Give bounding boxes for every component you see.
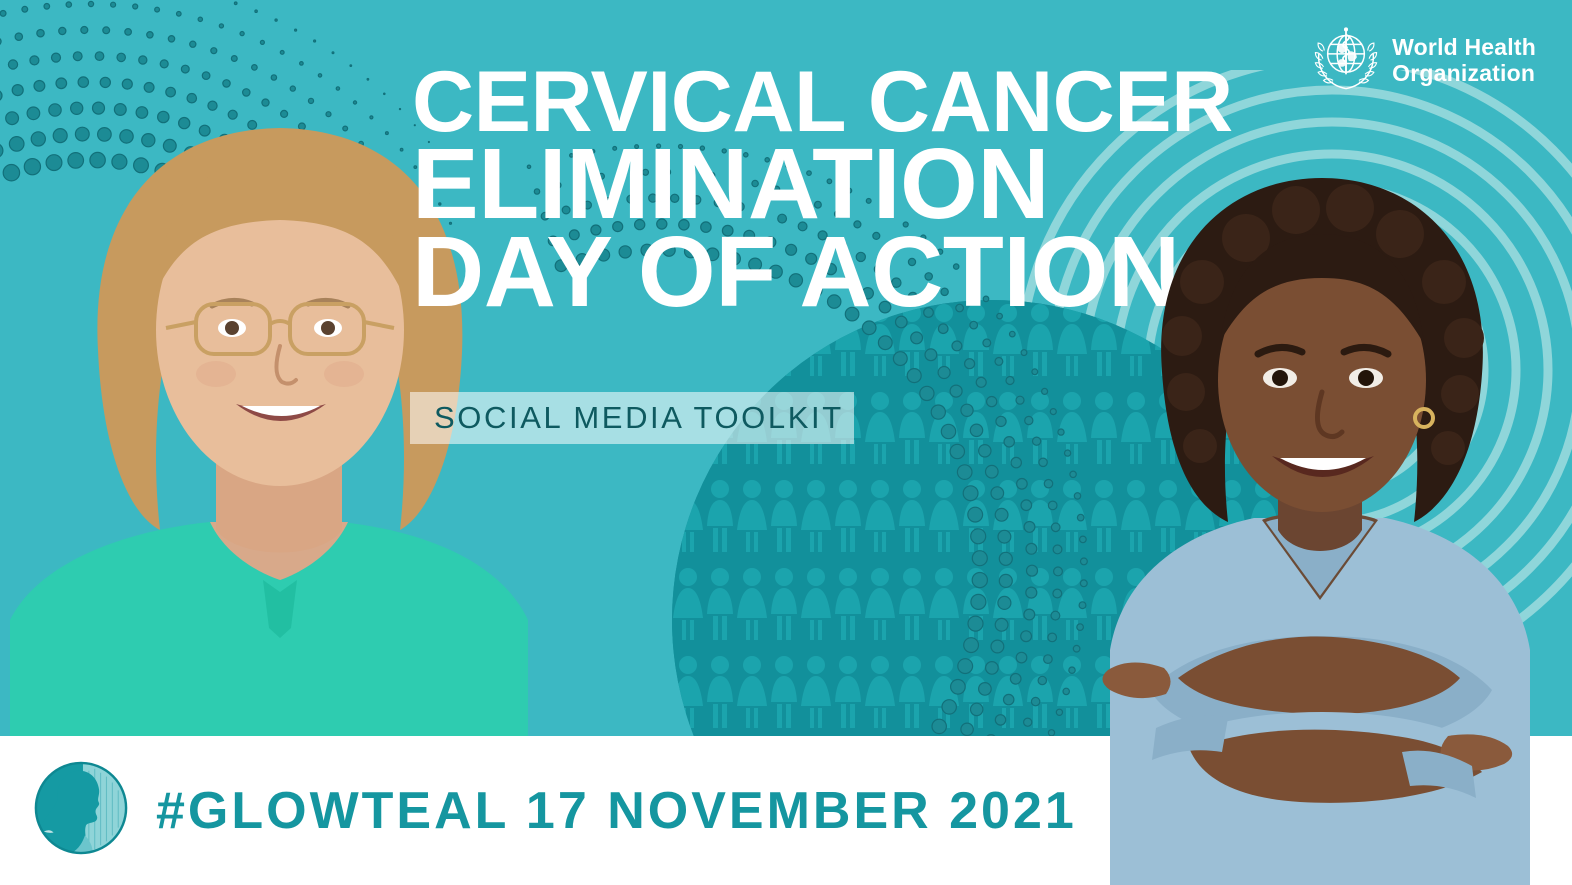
photo-right-woman (1040, 130, 1572, 885)
subtitle-text: SOCIAL MEDIA TOOLKIT (410, 400, 844, 436)
subtitle-band: SOCIAL MEDIA TOOLKIT (410, 392, 854, 444)
who-logo-line-2: Organization (1392, 60, 1535, 86)
who-emblem-icon (1312, 24, 1380, 97)
glowteal-globe-woman-icon (32, 759, 130, 862)
who-logo: World Health Organization (1312, 24, 1536, 97)
who-logo-text: World Health Organization (1392, 35, 1536, 87)
who-logo-line-1: World Health (1392, 34, 1536, 60)
poster-canvas: CERVICAL CANCER ELIMINATION DAY OF ACTIO… (0, 0, 1572, 885)
footer-text: #GLOWTEAL 17 NOVEMBER 2021 (156, 781, 1077, 841)
